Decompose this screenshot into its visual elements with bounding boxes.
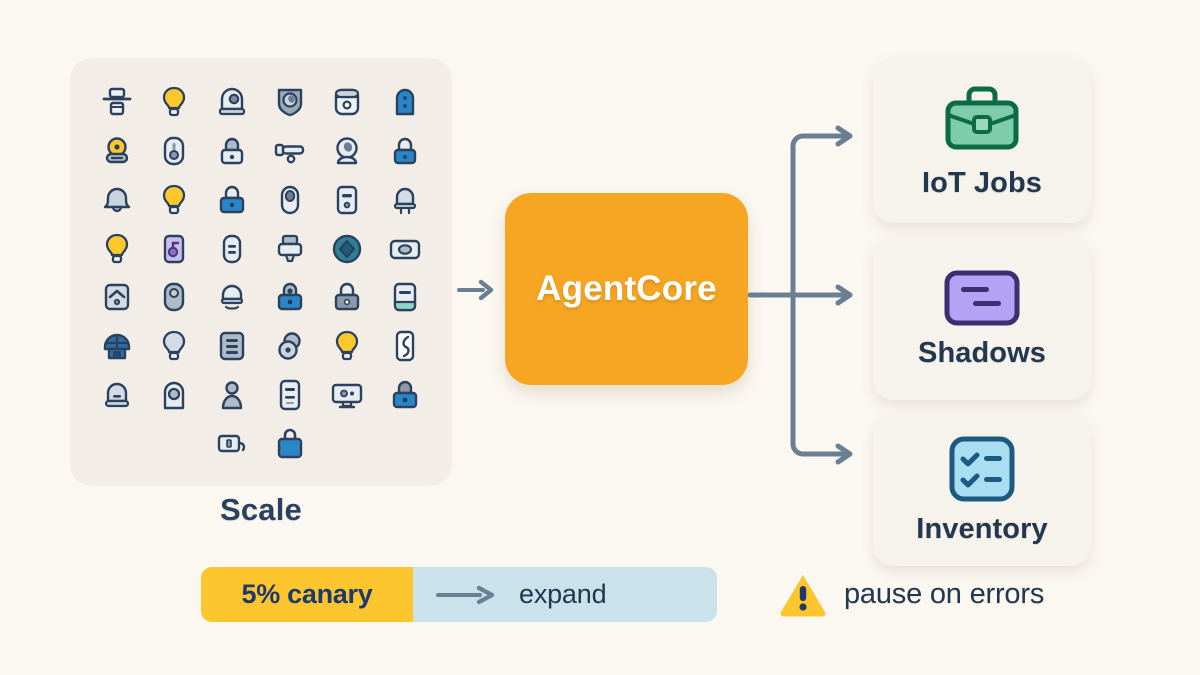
lightbulb-yellow-icon — [99, 231, 135, 267]
canary-segment: 5% canary — [201, 567, 413, 622]
switch-purple-icon — [156, 231, 192, 267]
garage-door-icon — [99, 279, 135, 315]
branch-connector-icon — [748, 110, 882, 480]
monitor-icon — [329, 377, 365, 413]
expand-segment: expand — [413, 567, 717, 622]
agentcore-label: AgentCore — [536, 269, 717, 309]
destination-card-shadows[interactable]: Shadows — [873, 237, 1091, 400]
arrow-right-icon — [435, 584, 497, 606]
arrow-right-icon — [455, 272, 497, 308]
document-icon — [214, 328, 250, 364]
projector-icon — [272, 231, 308, 267]
cable-icon — [387, 328, 423, 364]
lightbulb-yellow-icon — [156, 182, 192, 218]
shield-camera-icon — [272, 84, 308, 120]
dome-light-icon — [214, 279, 250, 315]
destination-label: Shadows — [918, 337, 1046, 370]
pause-label: pause on errors — [844, 578, 1044, 611]
flashlight-icon — [272, 133, 308, 169]
checklist-icon — [946, 435, 1018, 505]
webcam-icon — [329, 133, 365, 169]
filter-icon — [99, 84, 135, 120]
hub-teal-icon — [329, 231, 365, 267]
padlock-slate-icon — [329, 279, 365, 315]
siren-yellow-icon — [99, 133, 135, 169]
tower-icon — [272, 377, 308, 413]
bell-icon — [99, 182, 135, 218]
door-sensor-blue-icon — [387, 84, 423, 120]
padlock-blue-icon — [387, 133, 423, 169]
destination-card-iot-jobs[interactable]: IoT Jobs — [873, 58, 1091, 223]
presence-sensor-icon — [214, 377, 250, 413]
lightbulb-yellow-icon — [156, 84, 192, 120]
thermostat-icon — [387, 279, 423, 315]
camera-dome-icon — [214, 84, 250, 120]
destination-label: IoT Jobs — [922, 167, 1042, 200]
source-label: Scale — [70, 492, 452, 528]
server-icon — [329, 182, 365, 218]
led-bulb-icon — [387, 182, 423, 218]
briefcase-blue-icon — [272, 426, 308, 462]
motion-sensor-icon — [156, 133, 192, 169]
camera-arch-icon — [156, 377, 192, 413]
speaker-puck-icon — [329, 84, 365, 120]
padlock-user-blue-icon — [272, 279, 308, 315]
diagram-canvas: Scale AgentCore IoT Jobs — [0, 0, 1200, 675]
bell-base-icon — [99, 377, 135, 413]
padlock-gray-icon — [214, 133, 250, 169]
smart-home-icon — [99, 328, 135, 364]
briefcase-icon — [936, 81, 1028, 159]
card-reader-icon — [387, 231, 423, 267]
sensor-capsule-icon — [156, 279, 192, 315]
destination-card-inventory[interactable]: Inventory — [873, 414, 1091, 566]
padlock-blue-2-icon — [387, 377, 423, 413]
disc-sensor-icon — [272, 328, 308, 364]
expand-label: expand — [519, 579, 606, 610]
warning-triangle-icon — [778, 571, 828, 617]
shadow-document-icon — [941, 267, 1023, 329]
agentcore-node[interactable]: AgentCore — [505, 193, 748, 385]
rollout-progress-bar[interactable]: 5% canary expand — [201, 567, 717, 622]
keypad-icon — [214, 231, 250, 267]
camera-lens-icon — [272, 182, 308, 218]
lightbulb-white-icon — [156, 328, 192, 364]
tape-measure-icon — [214, 426, 250, 462]
pause-on-errors-note: pause on errors — [778, 566, 1044, 622]
destination-label: Inventory — [916, 513, 1047, 546]
lightbulb-yellow-icon — [329, 328, 365, 364]
padlock-blue-solid-icon — [214, 182, 250, 218]
device-icon-grid — [88, 78, 434, 468]
device-fleet-panel — [70, 58, 452, 486]
